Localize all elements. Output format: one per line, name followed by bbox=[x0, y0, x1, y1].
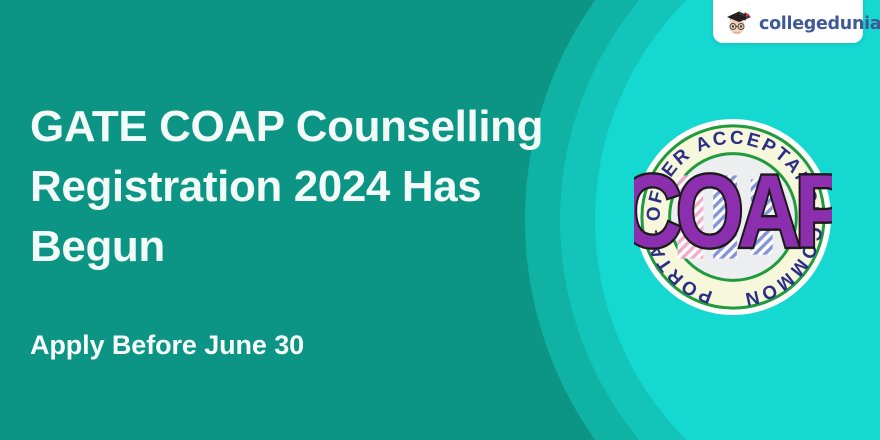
promo-banner: collegedunia™ GATE COAP Counselling Regi… bbox=[0, 0, 880, 440]
coap-seal-logo: OFFER ACCEPTANCE COMMON PORTAL COAP bbox=[634, 118, 832, 316]
collegedunia-wordmark: collegedunia™ bbox=[759, 16, 880, 34]
page-title: GATE COAP Counselling Registration 2024 … bbox=[30, 97, 550, 277]
coap-seal-graphic: OFFER ACCEPTANCE COMMON PORTAL COAP bbox=[634, 118, 832, 316]
collegedunia-logo-badge[interactable]: collegedunia™ bbox=[713, 0, 863, 43]
seal-acronym: COAP bbox=[634, 155, 832, 269]
svg-text:COAP: COAP bbox=[634, 155, 832, 269]
collegedunia-mascot-icon bbox=[722, 7, 754, 37]
page-subtitle: Apply Before June 30 bbox=[30, 330, 304, 361]
